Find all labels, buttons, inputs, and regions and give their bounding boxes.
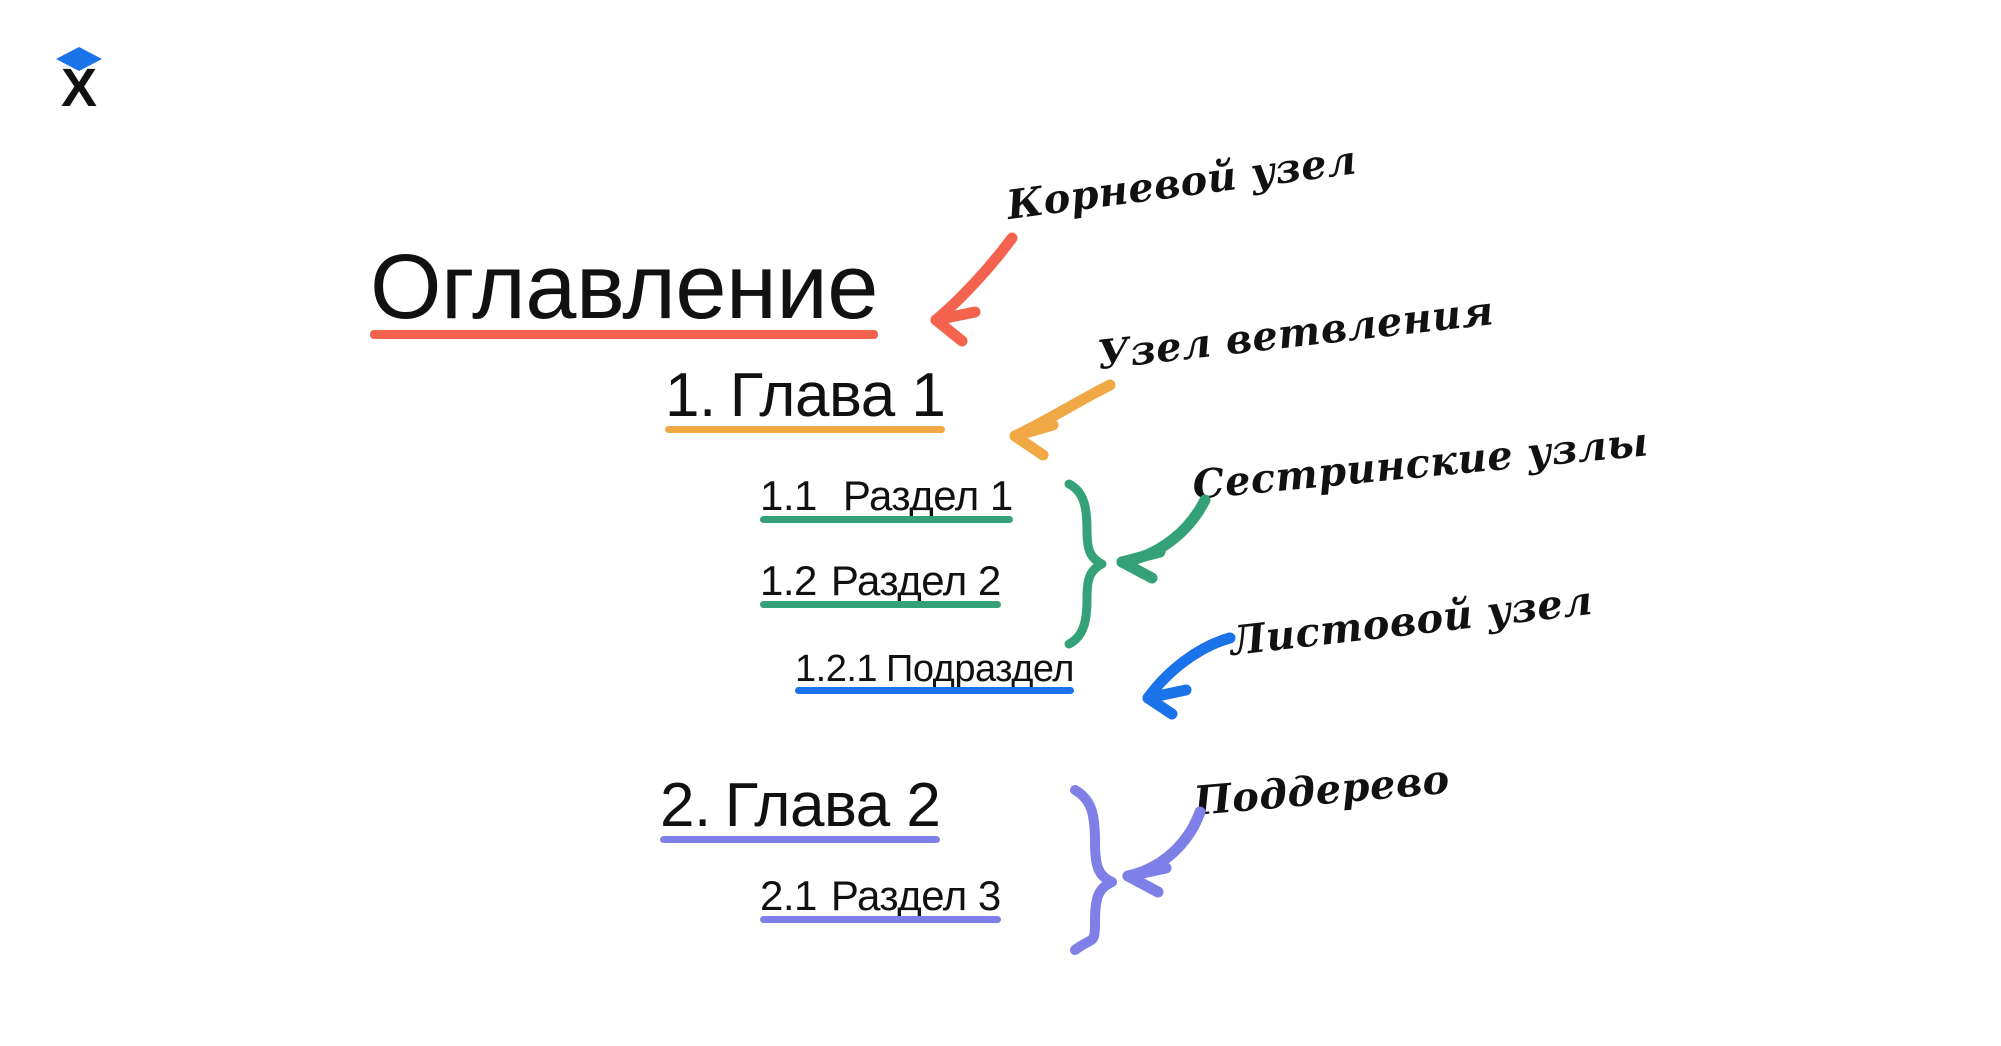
arrow-subtree [1128,812,1200,892]
annotation-label-leaf-node: Листовой узел [1228,577,1595,665]
toc-number-chapter-1: 1. [665,365,716,427]
toc-number-subsection-1-2-1: 1.2.1 [795,650,877,688]
toc-number-chapter-2: 2. [660,775,711,837]
toc-row-section-1-2[interactable]: 1.2Раздел 2 [760,560,1001,608]
toc-text-section-1-1: Раздел 1 [843,472,1013,519]
x-logo-icon: X [48,44,110,110]
toc-number-section-1-2: 1.2 [760,560,817,602]
toc-row-chapter-2[interactable]: 2.Глава 2 [660,775,940,843]
arrow-branch-node [1015,385,1110,455]
toc-row-section-1-1[interactable]: 1.1Раздел 1 [760,475,1013,523]
toc-row-root[interactable]: Оглавление [370,241,878,339]
toc-text-section-2-1: Раздел 3 [831,872,1001,919]
annotation-label-root-node: Корневой узел [1004,136,1359,229]
toc-row-chapter-1[interactable]: 1.Глава 1 [665,365,945,433]
toc-text-section-1-2: Раздел 2 [831,557,1001,604]
toc-label-section-1-2: 1.2Раздел 2 [760,560,1001,608]
toc-text-chapter-1: Глава 1 [730,361,946,430]
toc-text-chapter-2: Глава 2 [725,771,941,840]
app-logo[interactable]: X [48,44,110,110]
toc-text-subsection-1-2-1: Подраздел [886,648,1074,690]
toc-label-chapter-1: 1.Глава 1 [665,365,945,433]
brace-sibling-nodes [1069,484,1102,644]
toc-label-section-2-1: 2.1Раздел 3 [760,875,1001,923]
brace-subtree [1075,790,1112,950]
toc-row-subsection-1-2-1[interactable]: 1.2.1Подраздел [795,650,1074,694]
toc-label-section-1-1: 1.1Раздел 1 [760,475,1013,523]
toc-label-root: Оглавление [370,241,878,339]
arrow-sibling-nodes [1122,500,1205,578]
annotation-label-subtree: Поддерево [1192,756,1452,825]
toc-label-subsection-1-2-1: 1.2.1Подраздел [795,650,1074,694]
annotation-label-sibling-nodes: Сестринские узлы [1190,418,1650,509]
toc-number-section-2-1: 2.1 [760,875,817,917]
logo-letter: X [61,58,97,110]
arrow-leaf-node [1148,638,1230,714]
toc-label-chapter-2: 2.Глава 2 [660,775,940,843]
arrow-root-node [936,238,1012,341]
toc-row-section-2-1[interactable]: 2.1Раздел 3 [760,875,1001,923]
annotation-label-branch-node: Узел ветвления [1095,287,1497,379]
toc-number-section-1-1: 1.1 [760,475,817,517]
